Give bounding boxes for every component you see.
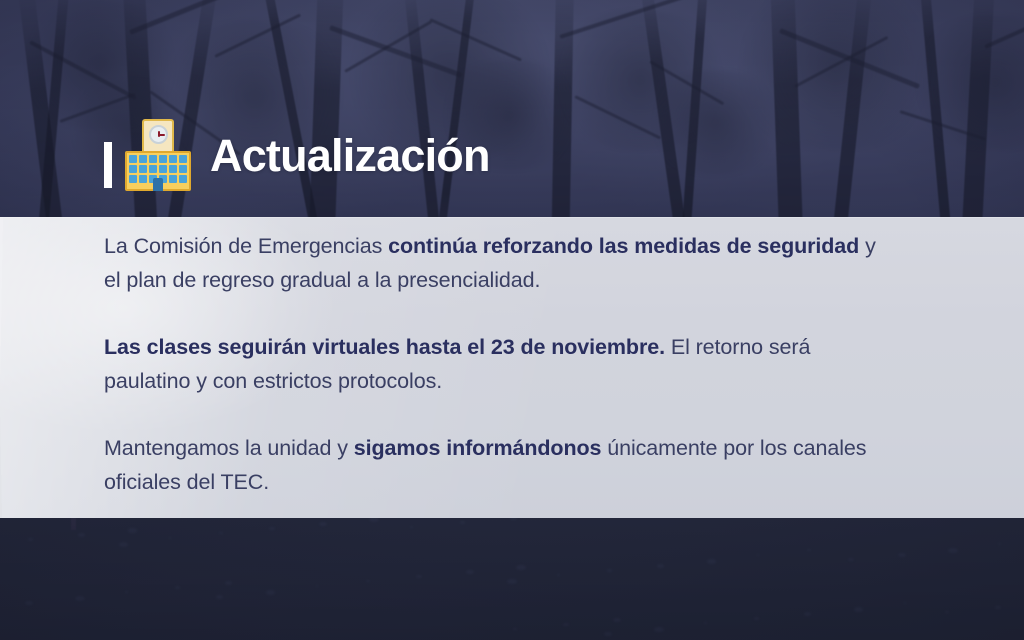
announcement-paragraph: Las clases seguirán virtuales hasta el 2… bbox=[104, 330, 894, 398]
icon-window bbox=[179, 175, 187, 183]
icon-window bbox=[129, 155, 137, 163]
emphasis-text: continúa reforzando las medidas de segur… bbox=[388, 234, 859, 258]
icon-window bbox=[169, 175, 177, 183]
icon-window bbox=[159, 165, 167, 173]
page-title: Actualización bbox=[210, 133, 490, 178]
announcement-paragraph: Mantengamos la unidad y sigamos informán… bbox=[104, 431, 894, 499]
icon-window bbox=[139, 155, 147, 163]
announcement-text-block: La Comisión de Emergencias continúa refo… bbox=[104, 229, 894, 499]
accent-bar bbox=[104, 142, 112, 188]
icon-window bbox=[149, 165, 157, 173]
icon-window bbox=[169, 155, 177, 163]
icon-window bbox=[179, 165, 187, 173]
body-text: Mantengamos la unidad y bbox=[104, 436, 354, 460]
icon-clock-minute-hand bbox=[158, 134, 165, 137]
emphasis-text: sigamos informándonos bbox=[354, 436, 602, 460]
content-panel: La Comisión de Emergencias continúa refo… bbox=[0, 217, 1024, 518]
icon-window bbox=[139, 165, 147, 173]
icon-window bbox=[169, 165, 177, 173]
emphasis-text: Las clases seguirán virtuales hasta el 2… bbox=[104, 335, 665, 359]
slide-header: Actualización bbox=[104, 118, 490, 192]
body-text: La Comisión de Emergencias bbox=[104, 234, 388, 258]
icon-window bbox=[139, 175, 147, 183]
icon-window bbox=[129, 175, 137, 183]
school-building-clock-icon bbox=[120, 119, 196, 191]
announcement-paragraph: La Comisión de Emergencias continúa refo… bbox=[104, 229, 894, 297]
icon-building-door bbox=[153, 178, 163, 191]
announcement-slide: Actualización La Comisión de Emergencias… bbox=[0, 0, 1024, 640]
icon-window bbox=[159, 155, 167, 163]
icon-window bbox=[129, 165, 137, 173]
icon-window bbox=[179, 155, 187, 163]
icon-window bbox=[149, 155, 157, 163]
